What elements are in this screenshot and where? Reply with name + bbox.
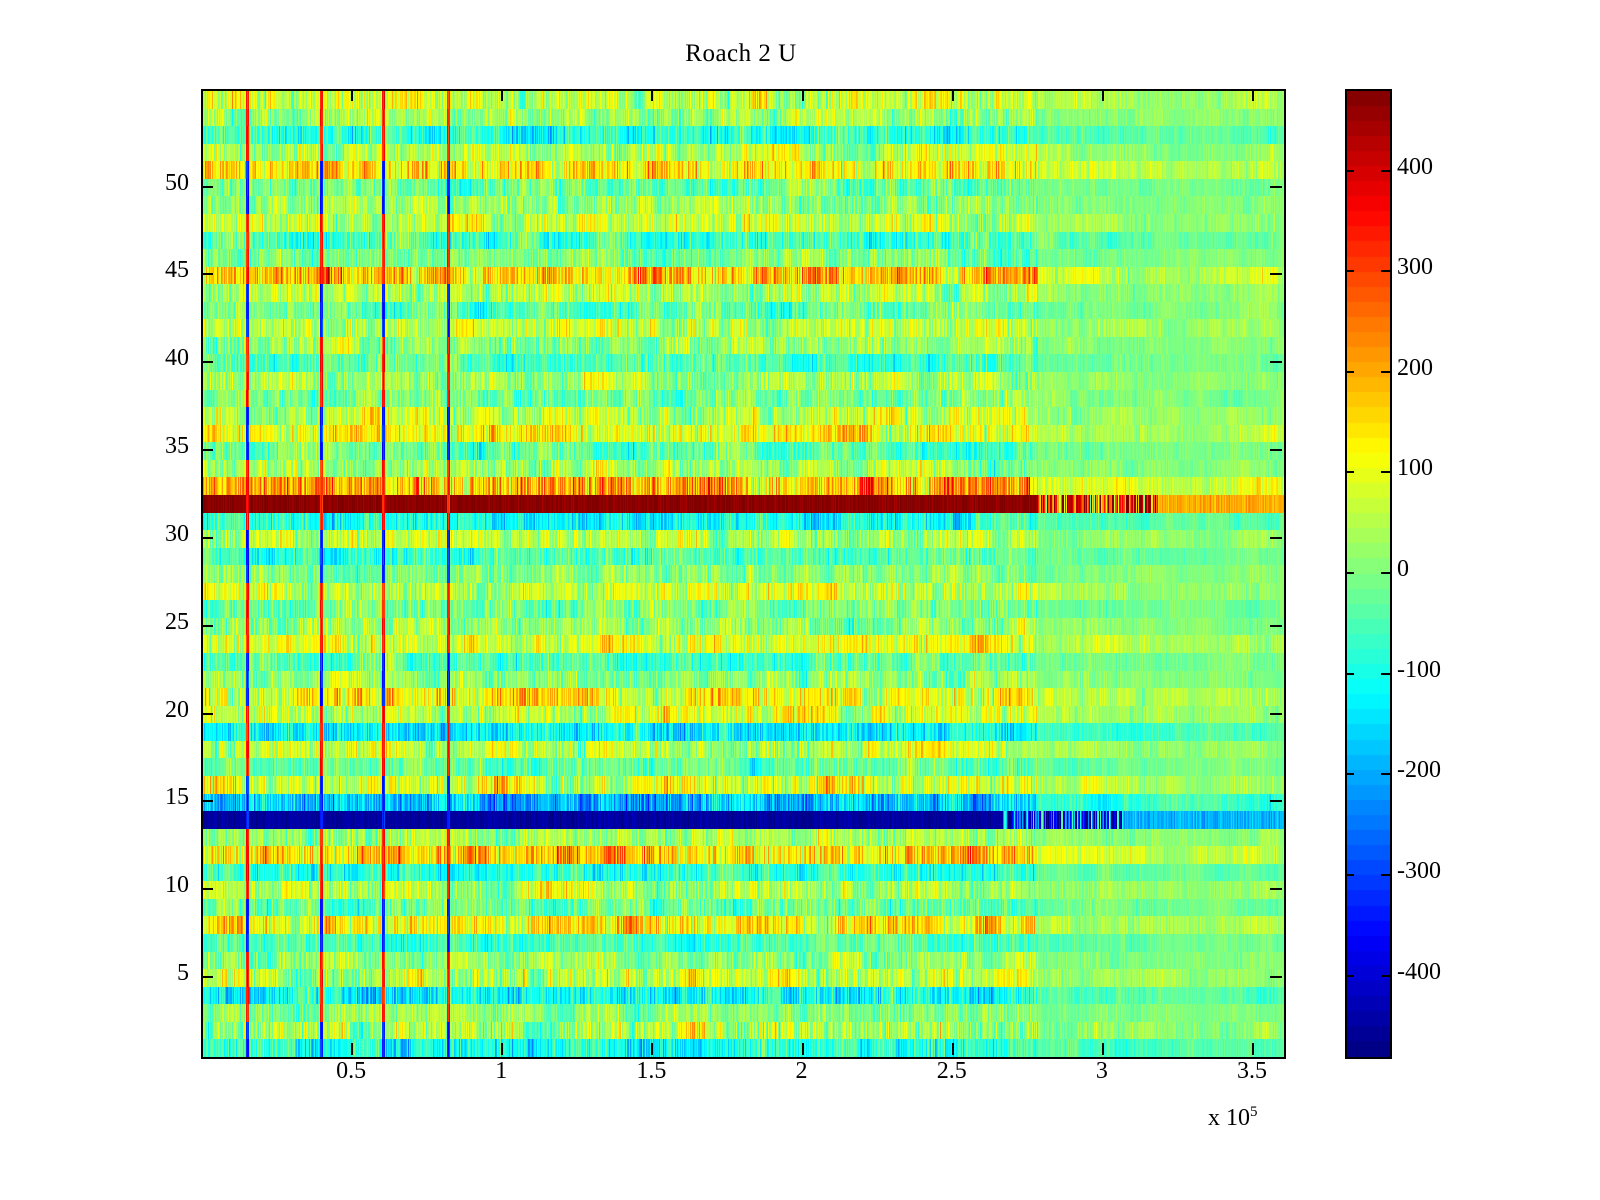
colorbar-tick-mark (1345, 572, 1354, 574)
y-tick-mark-right (1270, 186, 1282, 188)
colorbar-tick-mark (1345, 371, 1354, 373)
colorbar-tick-mark-right (1381, 270, 1390, 272)
x-tick-mark-top (651, 89, 653, 101)
x-exponent-power: 5 (1250, 1104, 1258, 1120)
colorbar-tick-label: -300 (1397, 858, 1441, 885)
y-tick-mark (201, 186, 213, 188)
y-tick-mark-right (1270, 449, 1282, 451)
colorbar-tick-label: -200 (1397, 757, 1441, 784)
colorbar-tick-label: -400 (1397, 959, 1441, 986)
heatmap-axes[interactable] (201, 89, 1286, 1059)
colorbar-tick-label: 200 (1397, 355, 1433, 382)
x-tick-label: 2.5 (937, 1058, 967, 1085)
y-tick-mark-right (1270, 537, 1282, 539)
y-tick-label: 20 (165, 697, 189, 724)
colorbar-tick-mark-right (1381, 572, 1390, 574)
x-tick-label: 1.5 (636, 1058, 666, 1085)
y-tick-mark-right (1270, 273, 1282, 275)
x-tick-mark (651, 1043, 653, 1055)
x-tick-mark (501, 1043, 503, 1055)
x-tick-mark-top (501, 89, 503, 101)
colorbar-tick-mark-right (1381, 673, 1390, 675)
x-tick-mark (802, 1043, 804, 1055)
colorbar-tick-mark (1345, 471, 1354, 473)
figure-canvas: Roach 2 U x 105 51015202530354045500.511… (0, 0, 1600, 1200)
colorbar-tick-mark-right (1381, 773, 1390, 775)
x-tick-mark (952, 1043, 954, 1055)
x-tick-label: 0.5 (336, 1058, 366, 1085)
y-tick-mark-right (1270, 976, 1282, 978)
y-tick-mark (201, 361, 213, 363)
colorbar-tick-mark (1345, 673, 1354, 675)
colorbar-tick-mark (1345, 170, 1354, 172)
x-axis-exponent-label: x 105 (1208, 1104, 1258, 1132)
x-tick-mark-top (351, 89, 353, 101)
x-tick-mark-top (802, 89, 804, 101)
x-tick-label: 2 (796, 1058, 808, 1085)
x-tick-mark (1102, 1043, 1104, 1055)
y-tick-mark-right (1270, 361, 1282, 363)
x-tick-mark-top (1102, 89, 1104, 101)
y-tick-mark (201, 976, 213, 978)
y-tick-mark (201, 713, 213, 715)
colorbar-gradient (1347, 91, 1390, 1057)
x-exponent-prefix: x 10 (1208, 1105, 1250, 1131)
colorbar-tick-mark (1345, 874, 1354, 876)
colorbar-tick-mark-right (1381, 975, 1390, 977)
x-tick-mark (351, 1043, 353, 1055)
y-tick-label: 50 (165, 170, 189, 197)
page-title: Roach 2 U (0, 40, 1482, 68)
y-tick-mark (201, 800, 213, 802)
colorbar-tick-mark (1345, 270, 1354, 272)
y-tick-mark (201, 625, 213, 627)
y-tick-mark (201, 888, 213, 890)
y-tick-mark (201, 449, 213, 451)
colorbar-tick-label: 100 (1397, 455, 1433, 482)
colorbar-tick-mark (1345, 773, 1354, 775)
colorbar-tick-mark (1345, 975, 1354, 977)
y-tick-label: 10 (165, 872, 189, 899)
colorbar[interactable] (1345, 89, 1392, 1059)
y-tick-mark-right (1270, 625, 1282, 627)
y-tick-label: 30 (165, 521, 189, 548)
heatmap-image (203, 91, 1284, 1057)
y-tick-mark-right (1270, 713, 1282, 715)
x-tick-mark-top (1252, 89, 1254, 101)
colorbar-tick-label: 400 (1397, 154, 1433, 181)
x-tick-label: 3.5 (1237, 1058, 1267, 1085)
colorbar-tick-mark-right (1381, 170, 1390, 172)
colorbar-tick-mark-right (1381, 874, 1390, 876)
y-tick-label: 40 (165, 345, 189, 372)
y-tick-label: 35 (165, 433, 189, 460)
y-tick-label: 45 (165, 257, 189, 284)
colorbar-tick-mark-right (1381, 371, 1390, 373)
x-tick-label: 1 (495, 1058, 507, 1085)
colorbar-tick-label: -100 (1397, 657, 1441, 684)
y-tick-mark (201, 537, 213, 539)
x-tick-label: 3 (1096, 1058, 1108, 1085)
colorbar-tick-mark-right (1381, 471, 1390, 473)
x-tick-mark-top (952, 89, 954, 101)
y-tick-mark-right (1270, 888, 1282, 890)
y-tick-mark-right (1270, 800, 1282, 802)
y-tick-mark (201, 273, 213, 275)
x-tick-mark (1252, 1043, 1254, 1055)
colorbar-tick-label: 300 (1397, 254, 1433, 281)
colorbar-tick-label: 0 (1397, 556, 1409, 583)
y-tick-label: 15 (165, 784, 189, 811)
y-tick-label: 5 (177, 960, 189, 987)
y-tick-label: 25 (165, 609, 189, 636)
